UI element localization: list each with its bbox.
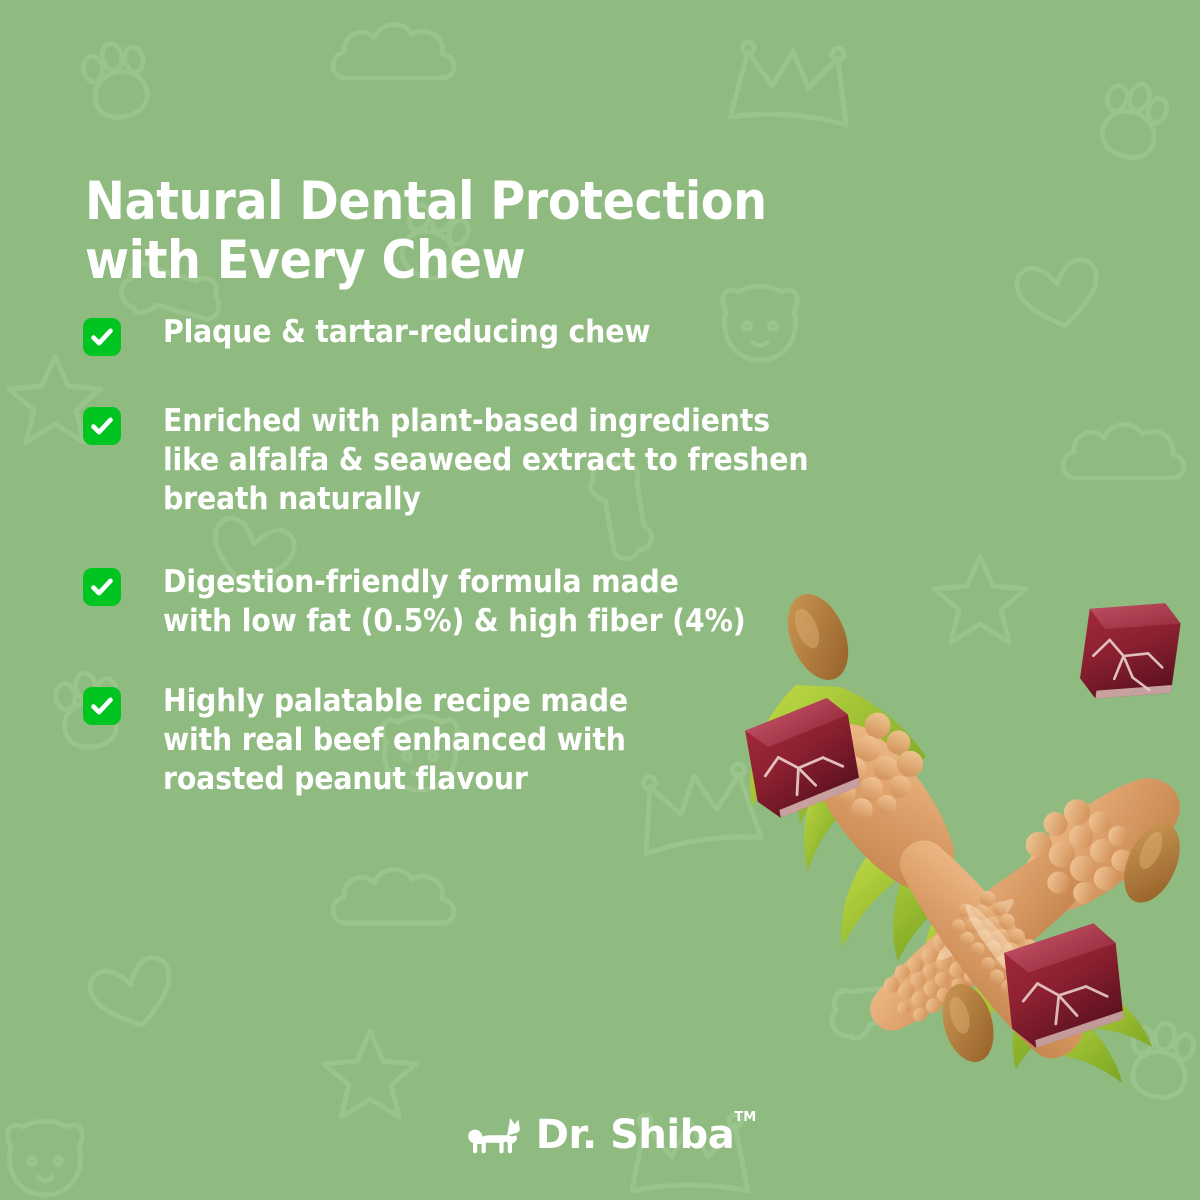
trademark-symbol: TM [734, 1111, 756, 1124]
beef-cube [1078, 593, 1184, 709]
list-item-label: Highly palatable recipe made with real b… [163, 682, 628, 799]
check-icon [83, 407, 121, 445]
brand-logo: Dr. Shiba TM [0, 1114, 1200, 1156]
list-item: Enriched with plant-based ingredients li… [83, 402, 963, 519]
brand-name-text: Dr. Shiba [536, 1112, 734, 1158]
list-item-label: Plaque & tartar-reducing chew [163, 313, 650, 352]
list-item: Plaque & tartar-reducing chew [83, 313, 963, 356]
list-item-label: Digestion-friendly formula made with low… [163, 563, 746, 641]
check-icon [83, 318, 121, 356]
check-icon [83, 568, 121, 606]
peanut [776, 585, 860, 689]
page-title: Natural Dental Protection with Every Che… [85, 172, 945, 292]
list-item-label: Enriched with plant-based ingredients li… [163, 402, 808, 519]
brand-name: Dr. Shiba TM [536, 1115, 734, 1155]
shiba-dog-icon [466, 1114, 522, 1156]
product-image [700, 545, 1200, 1115]
check-icon [83, 687, 121, 725]
promo-banner: Natural Dental Protection with Every Che… [0, 0, 1200, 1200]
